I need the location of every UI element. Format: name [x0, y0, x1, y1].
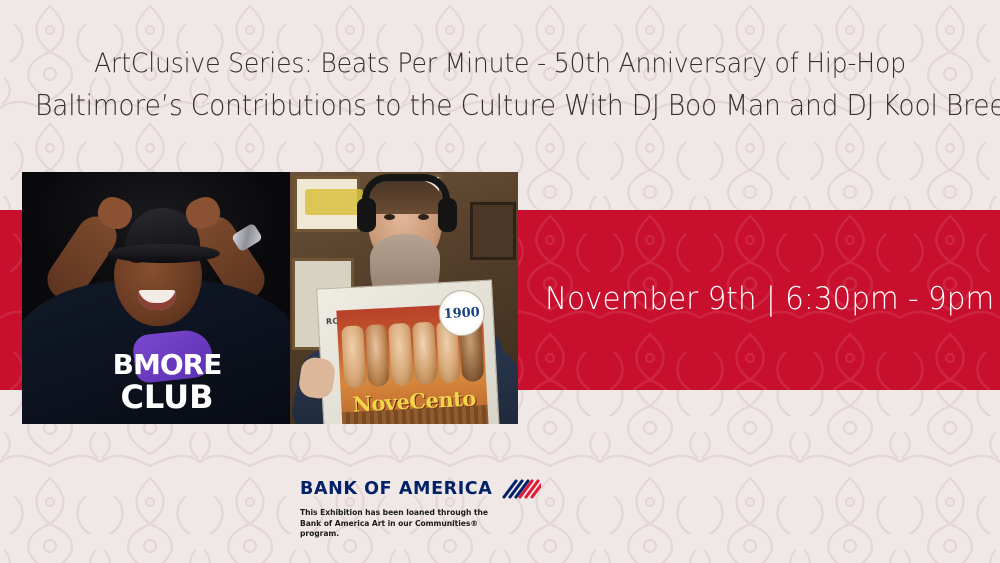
dj2-headphone-cup-left — [357, 198, 376, 232]
event-date-time: November 9th | 6:30pm - 9pm — [545, 278, 963, 320]
bank-of-america-wordmark: BANK OF AMERICA — [300, 479, 492, 499]
dj2-wall-frame-3 — [470, 202, 516, 260]
dj2-cover-face — [341, 325, 366, 388]
bank-of-america-caption: This Exhibition has been loaned through … — [300, 508, 500, 540]
dj2-headphone-cup-right — [438, 198, 457, 232]
dj2-eye-right — [418, 214, 429, 220]
dj1-tshirt-text-line1: BMORE — [92, 350, 242, 380]
dj1-hat-brim — [108, 244, 220, 263]
dj2-wall-frame-1 — [294, 176, 360, 232]
bank-of-america-lockup: BANK OF AMERICA — [300, 476, 522, 502]
dj2-cover-face — [388, 323, 413, 386]
dj2-vinyl-record-sleeve: RCA 1900 NoveCento — [316, 279, 500, 424]
dj1-tshirt-text-line2: CLUB — [92, 380, 242, 414]
photo-collage: BMORE CLUB RCA 1900 — [22, 172, 518, 424]
page-title: ArtClusive Series: Beats Per Minute - 50… — [0, 44, 1000, 128]
title-line-2: Baltimore’s Contributions to the Culture… — [35, 84, 965, 128]
event-flyer: ArtClusive Series: Beats Per Minute - 50… — [0, 0, 1000, 563]
sponsor-row: BANK OF AMERICA This Exhibition has been… — [0, 466, 1000, 538]
dj2-cover-face — [365, 324, 390, 387]
title-line-1: ArtClusive Series: Beats Per Minute - 50… — [35, 44, 965, 84]
photo-dj-kool-breeze: RCA 1900 NoveCento — [290, 172, 518, 424]
dj2-headphone-band — [362, 174, 450, 200]
bank-of-america-flag-icon — [501, 476, 541, 502]
bank-of-america-logo: BANK OF AMERICA This Exhibition has been… — [300, 476, 522, 540]
photo-dj-boo-man: BMORE CLUB — [22, 172, 290, 424]
dj2-wall-art-yellow — [305, 189, 363, 215]
dj2-cover-face — [412, 322, 437, 385]
dj2-eye-left — [384, 214, 395, 220]
